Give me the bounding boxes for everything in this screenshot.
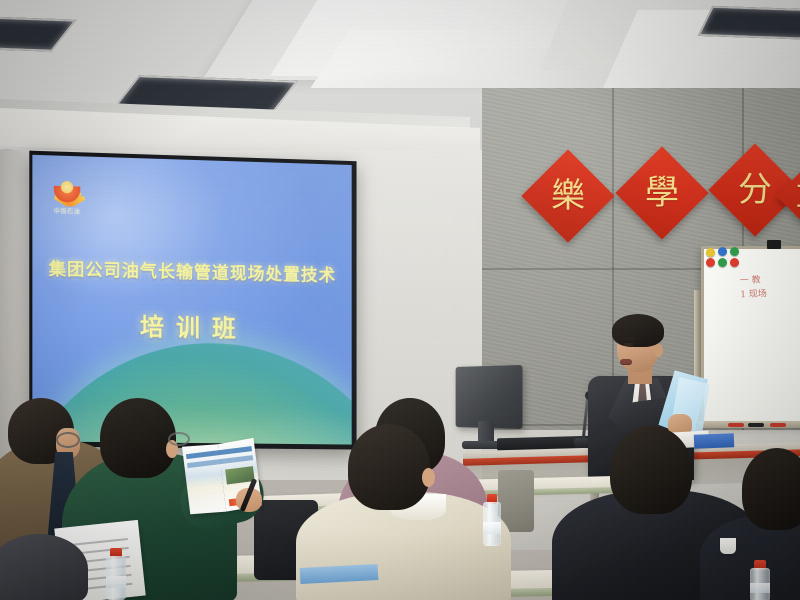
magnet-icon[interactable]: [706, 248, 715, 257]
photo-scene: 樂 學 分 享 一 教 1 现场: [0, 0, 800, 600]
attendee-cream-jacket-ear: [422, 468, 435, 487]
attendee-cream-jacket-head: [348, 424, 430, 510]
bottle-label: [483, 522, 501, 534]
magnet-icon[interactable]: [706, 258, 715, 267]
presenter-ear: [654, 344, 663, 357]
bottle-body: [750, 568, 770, 600]
bottle-label: [106, 576, 126, 588]
eyeglasses-icon: [168, 432, 190, 446]
bottle-label: [750, 583, 770, 593]
ceiling-light-icon: [698, 6, 800, 40]
whiteboard-note-line-2: 1 现场: [740, 286, 800, 302]
magnet-icon[interactable]: [718, 247, 727, 256]
bottle-body: [106, 556, 126, 600]
placard-character: 享: [784, 167, 800, 233]
sun-icon: [51, 172, 84, 205]
attendee-dark-suit-right-head: [742, 448, 800, 530]
presenter-eye: [624, 343, 633, 346]
magnet-icon[interactable]: [730, 258, 739, 267]
whiteboard-clip-icon[interactable]: [767, 240, 781, 249]
placard-character: 分: [722, 157, 788, 223]
cnpc-sun-logo: 中国石油: [49, 171, 86, 217]
presenter-hair: [612, 314, 664, 347]
marker-icon[interactable]: [770, 423, 786, 427]
slide-subtitle: 培训班: [32, 305, 351, 346]
water-bottle[interactable]: [483, 494, 501, 546]
front-table-blue-folder: [694, 433, 734, 448]
projection-screen: 中国石油 集团公司油气长输管道现场处置技术 培训班: [29, 151, 356, 450]
eyeglasses-icon: [56, 432, 80, 448]
presenter-mouth-speaking: [620, 359, 632, 365]
logo-caption: 中国石油: [49, 206, 86, 216]
magnet-icon[interactable]: [730, 247, 739, 256]
projection-screen-surface: 中国石油 集团公司油气长输管道现场处置技术 培训班: [32, 155, 351, 445]
wall-placard-diamond: 樂: [521, 149, 614, 242]
bottle-body: [483, 502, 501, 546]
attendee-green-sweater-head: [100, 398, 176, 478]
wall-placard-diamond: 學: [615, 146, 708, 239]
whiteboard: 一 教 1 现场: [701, 246, 800, 427]
marker-icon[interactable]: [728, 423, 744, 427]
placard-character: 學: [629, 160, 695, 226]
marker-icon[interactable]: [748, 423, 764, 427]
paper-cup[interactable]: [720, 538, 736, 554]
placard-character: 樂: [535, 163, 601, 229]
attendee-dark-suit-center-head: [610, 426, 692, 514]
water-bottle[interactable]: [750, 560, 770, 600]
whiteboard-handwriting: 一 教 1 现场: [740, 272, 800, 302]
magnet-icon[interactable]: [718, 258, 727, 267]
water-bottle[interactable]: [106, 548, 126, 600]
lcd-monitor: [456, 365, 523, 429]
